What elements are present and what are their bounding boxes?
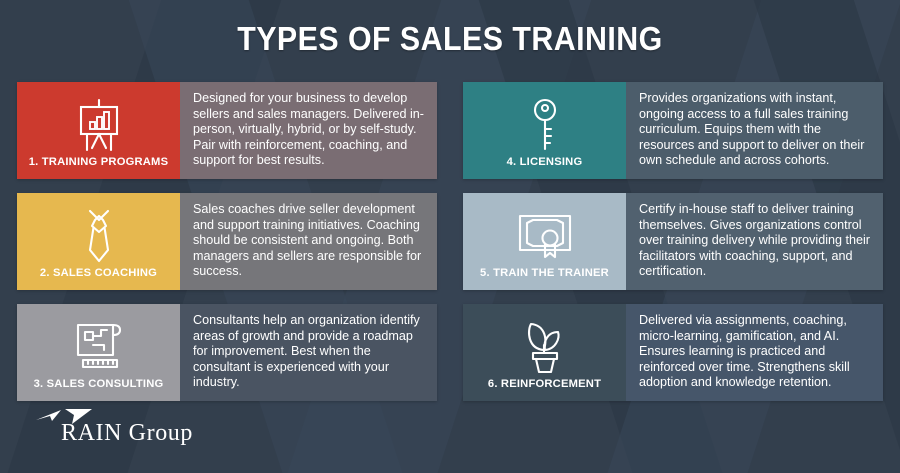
rain-group-logo[interactable]: RAIN Group (24, 403, 254, 457)
card-label: 5. TRAIN THE TRAINER (480, 267, 609, 290)
card-body: Delivered via assignments, coaching, mic… (626, 304, 883, 401)
easel-bar-chart-icon (17, 93, 180, 156)
certificate-icon (463, 204, 626, 267)
card-tile: 6. REINFORCEMENT (463, 304, 626, 401)
card-label: 3. SALES CONSULTING (34, 378, 164, 401)
page-title: TYPES OF SALES TRAINING (36, 20, 864, 58)
card-reinforcement[interactable]: 6. REINFORCEMENT Delivered via assignmen… (463, 304, 883, 401)
infographic-canvas: TYPES OF SALES TRAINING (0, 0, 900, 473)
card-sales-coaching[interactable]: 2. SALES COACHING Sales coaches drive se… (17, 193, 437, 290)
card-training-programs[interactable]: 1. TRAINING PROGRAMS Designed for your b… (17, 82, 437, 179)
card-tile: 2. SALES COACHING (17, 193, 180, 290)
card-train-the-trainer[interactable]: 5. TRAIN THE TRAINER Certify in-house st… (463, 193, 883, 290)
card-body: Certify in-house staff to deliver traini… (626, 193, 883, 290)
card-sales-consulting[interactable]: 3. SALES CONSULTING Consultants help an … (17, 304, 437, 401)
blueprint-ruler-icon (17, 315, 180, 378)
card-body: Designed for your business to develop se… (180, 82, 437, 179)
card-label: 1. TRAINING PROGRAMS (29, 156, 169, 179)
card-tile: 3. SALES CONSULTING (17, 304, 180, 401)
potted-plant-icon (463, 315, 626, 378)
card-body: Consultants help an organization identif… (180, 304, 437, 401)
logo-wordmark: RAIN Group (61, 420, 193, 447)
card-label: 2. SALES COACHING (40, 267, 157, 290)
card-tile: 4. LICENSING (463, 82, 626, 179)
card-label: 4. LICENSING (507, 156, 583, 179)
necktie-icon (17, 204, 180, 267)
card-label: 6. REINFORCEMENT (488, 378, 601, 401)
card-body: Sales coaches drive seller development a… (180, 193, 437, 290)
key-icon (463, 93, 626, 156)
card-grid: 1. TRAINING PROGRAMS Designed for your b… (17, 82, 883, 401)
card-tile: 1. TRAINING PROGRAMS (17, 82, 180, 179)
card-licensing[interactable]: 4. LICENSING Provides organizations with… (463, 82, 883, 179)
card-body: Provides organizations with instant, ong… (626, 82, 883, 179)
card-tile: 5. TRAIN THE TRAINER (463, 193, 626, 290)
